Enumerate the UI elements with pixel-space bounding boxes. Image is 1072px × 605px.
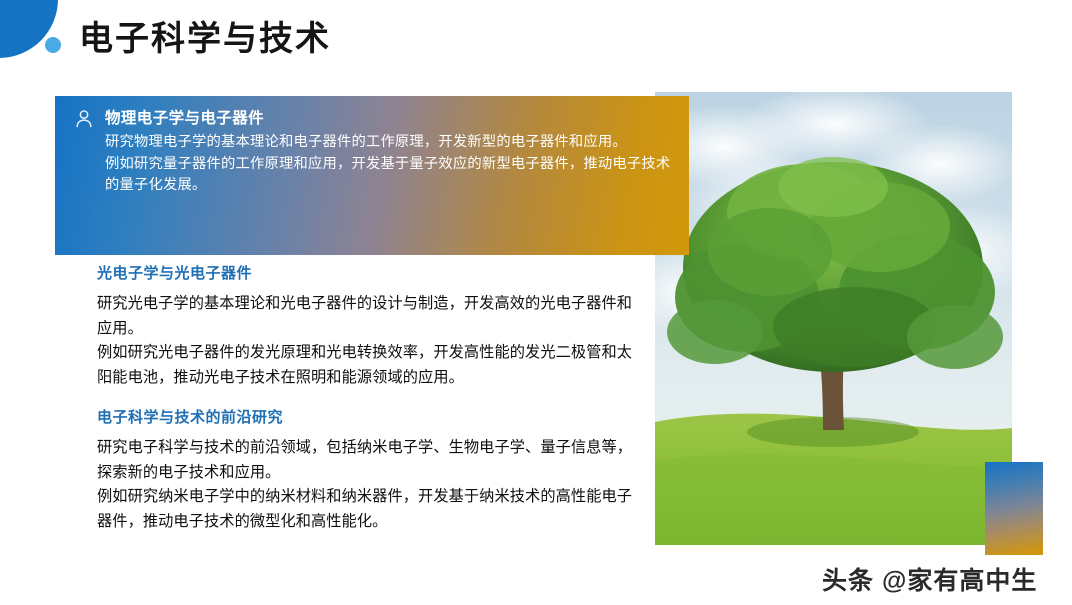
section-body: 研究光电子学的基本理论和光电子器件的设计与制造，开发高效的光电子器件和应用。 例… [97, 292, 637, 391]
section-title: 光电子学与光电子器件 [97, 262, 637, 283]
highlight-card-body: 研究物理电子学的基本理论和电子器件的工作原理，开发新型的电子器件和应用。 例如研… [105, 132, 671, 197]
section-paragraph: 例如研究光电子器件的发光原理和光电转换效率，开发高性能的发光二极管和太阳能电池，… [97, 341, 637, 390]
highlight-card-paragraph: 例如研究量子器件的工作原理和应用，开发基于量子效应的新型电子器件，推动电子技术的… [105, 154, 671, 197]
section-frontier-research: 电子科学与技术的前沿研究 研究电子科学与技术的前沿领域，包括纳米电子学、生物电子… [97, 406, 637, 535]
highlight-card-title: 物理电子学与电子器件 [105, 109, 264, 129]
slide-canvas: 电子科学与技术 [0, 0, 1072, 605]
section-paragraph: 研究光电子学的基本理论和光电子器件的设计与制造，开发高效的光电子器件和应用。 [97, 292, 637, 341]
accent-rectangle-decoration [985, 462, 1043, 555]
corner-dot-decoration [45, 37, 61, 53]
highlight-card-paragraph: 研究物理电子学的基本理论和电子器件的工作原理，开发新型的电子器件和应用。 [105, 132, 671, 154]
section-paragraph: 例如研究纳米电子学中的纳米材料和纳米器件，开发基于纳米技术的高性能电子器件，推动… [97, 485, 637, 534]
tree-photo-illustration [655, 92, 1012, 545]
person-icon [73, 108, 95, 130]
section-title: 电子科学与技术的前沿研究 [97, 406, 637, 427]
section-optoelectronics: 光电子学与光电子器件 研究光电子学的基本理论和光电子器件的设计与制造，开发高效的… [97, 262, 637, 391]
page-title: 电子科学与技术 [79, 19, 331, 60]
watermark: 头条 @家有高中生 [822, 561, 1037, 597]
tree-photo [655, 92, 1012, 545]
section-body: 研究电子科学与技术的前沿领域，包括纳米电子学、生物电子学、量子信息等，探索新的电… [97, 436, 637, 535]
highlight-card-physical-electronics: 物理电子学与电子器件 研究物理电子学的基本理论和电子器件的工作原理，开发新型的电… [55, 96, 689, 255]
section-paragraph: 研究电子科学与技术的前沿领域，包括纳米电子学、生物电子学、量子信息等，探索新的电… [97, 436, 637, 485]
highlight-card-header: 物理电子学与电子器件 [73, 108, 671, 130]
